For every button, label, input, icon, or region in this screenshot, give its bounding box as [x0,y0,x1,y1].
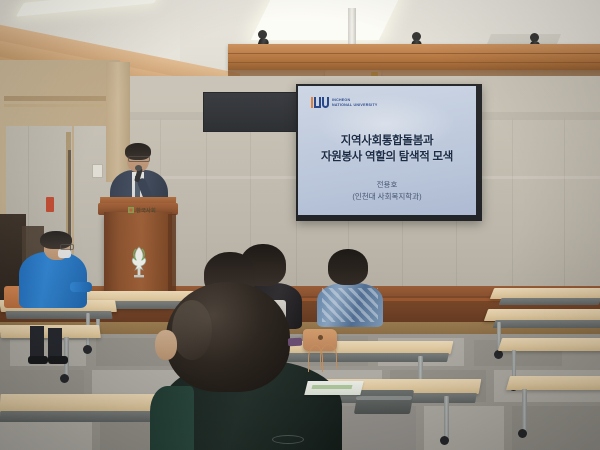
blue-jacket-shoe-r [48,356,68,364]
desk-caster [60,374,69,383]
logo-line-1: INCHEON [332,98,350,102]
recessed-light-panel [251,0,401,40]
logo-line-2: NATIONAL UNIVERSITY [332,103,378,107]
slide-title-line-2: 자원봉사 역할의 탐색적 모색 [298,149,476,165]
slide-author-affiliation: (인천대 사회복지학과) [298,191,476,203]
eyeglasses[interactable] [272,435,304,444]
desk-caster [518,429,527,438]
handbag-strap-right [320,344,337,369]
light-switch[interactable] [92,164,103,178]
blouse-pattern [322,288,378,322]
attendee-glasses [60,244,74,250]
slide-title: 지역사회통합돌봄과 자원봉사 역할의 탐색적 모색 [298,133,476,165]
front-attendee-hair-highlight [172,300,212,360]
podium-nameplate: 한국사회 [128,201,158,209]
podium-bird-emblem [125,244,153,278]
wall-trim-lower [4,104,116,107]
wall-trim-upper [4,96,116,101]
desk-caster [440,436,449,445]
stacked-chairs[interactable] [354,390,414,414]
svg-text:한국사회: 한국사회 [136,206,156,214]
projected-slide: INCHEON NATIONAL UNIVERSITY 지역사회통합돌봄과 자원… [298,86,476,215]
desk-row0-right-modesty [499,298,600,305]
front-attendee-shoulder-l [150,386,194,450]
fire-equipment-sign [46,197,54,212]
seminar-room-photo: INCHEON NATIONAL UNIVERSITY 지역사회통합돌봄과 자원… [0,0,600,450]
slide-author-block: 전용호 (인천대 사회복지학과) [298,179,476,202]
stacked-chairs-rail [356,396,413,400]
presenter-glasses [128,156,150,162]
blue-jacket-torso [19,252,87,308]
face-mask [58,249,71,258]
handbag-clasp [318,335,323,340]
screen-housing [203,92,300,132]
slide-author-name: 전용호 [298,179,476,191]
university-logo: INCHEON NATIONAL UNIVERSITY [311,97,378,108]
logo-text: INCHEON NATIONAL UNIVERSITY [332,98,378,107]
mobile-phone[interactable] [288,338,302,347]
blue-jacket-leg-l [30,326,44,360]
desk-leg [522,389,527,431]
beam-groove-2 [228,62,600,63]
desk-left-a-modesty [5,311,112,319]
blue-jacket-shoe-l [28,356,48,364]
desk-caster [83,345,92,354]
blue-jacket-arm [70,282,92,292]
desk-leg [444,396,449,440]
slide-title-line-1: 지역사회통합돌봄과 [298,133,476,149]
front-attendee-ear-side [155,330,177,360]
patterned-blouse-hair [328,249,368,285]
wood-beam [228,44,600,70]
desk-row1-right-modesty [493,320,600,328]
handout-accent [312,385,353,389]
desk-caster [494,350,503,359]
projection-screen[interactable]: INCHEON NATIONAL UNIVERSITY 지역사회통합돌봄과 자원… [296,84,482,221]
desk-row3-right [506,376,600,390]
microphone-head [135,165,142,171]
inu-logo-mark [311,97,329,108]
beam-groove-1 [228,53,600,54]
